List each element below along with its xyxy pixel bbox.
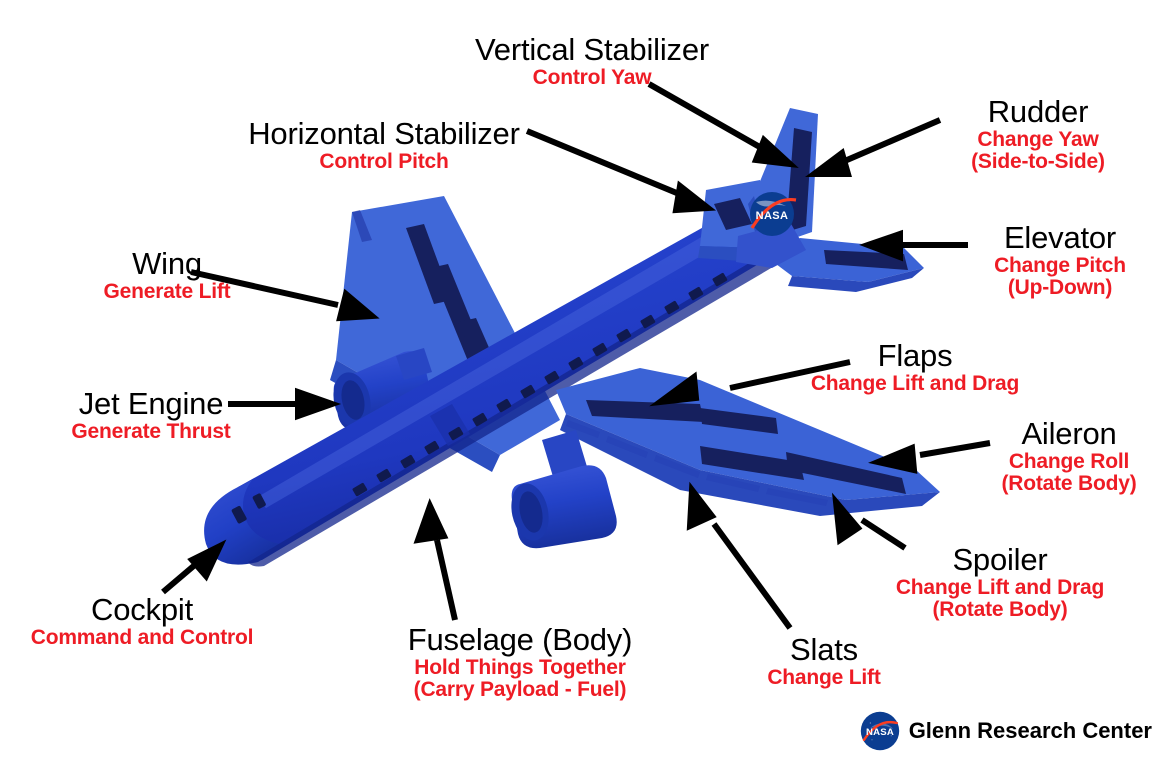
callout-title-fuselage: Fuselage (Body) xyxy=(376,624,664,657)
callout-spoiler: Spoiler Change Lift and Drag (Rotate Bod… xyxy=(866,544,1134,622)
callout-fuselage: Fuselage (Body) Hold Things Together (Ca… xyxy=(376,624,664,702)
callout-sub-spoiler-2: (Rotate Body) xyxy=(866,599,1134,622)
callout-rudder: Rudder Change Yaw (Side-to-Side) xyxy=(928,96,1148,174)
callout-sub-elevator-2: (Up-Down) xyxy=(960,277,1160,300)
callout-sub-aileron-1: Change Roll xyxy=(980,451,1158,474)
callout-title-elevator: Elevator xyxy=(960,222,1160,255)
nasa-meatball-icon: NASA xyxy=(860,711,900,751)
callout-sub-flaps-1: Change Lift and Drag xyxy=(800,373,1030,396)
callout-title-flaps: Flaps xyxy=(800,340,1030,373)
callout-layer: Vertical Stabilizer Control Yaw Rudder C… xyxy=(0,0,1168,765)
callout-sub-jet-engine-1: Generate Thrust xyxy=(56,421,246,444)
callout-vertical-stabilizer: Vertical Stabilizer Control Yaw xyxy=(462,34,722,89)
diagram-canvas: NASA xyxy=(0,0,1168,765)
callout-title-wing: Wing xyxy=(74,248,260,281)
callout-jet-engine: Jet Engine Generate Thrust xyxy=(56,388,246,443)
callout-title-jet-engine: Jet Engine xyxy=(56,388,246,421)
callout-sub-elevator-1: Change Pitch xyxy=(960,255,1160,278)
callout-wing: Wing Generate Lift xyxy=(74,248,260,303)
callout-title-horizontal-stabilizer: Horizontal Stabilizer xyxy=(234,118,534,151)
glenn-research-center-label: Glenn Research Center xyxy=(909,718,1152,744)
callout-title-aileron: Aileron xyxy=(980,418,1158,451)
callout-title-vertical-stabilizer: Vertical Stabilizer xyxy=(462,34,722,67)
callout-title-slats: Slats xyxy=(740,634,908,667)
callout-sub-aileron-2: (Rotate Body) xyxy=(980,473,1158,496)
callout-sub-spoiler-1: Change Lift and Drag xyxy=(866,577,1134,600)
callout-sub-slats-1: Change Lift xyxy=(740,667,908,690)
svg-text:NASA: NASA xyxy=(866,727,894,738)
callout-sub-fuselage-2: (Carry Payload - Fuel) xyxy=(376,679,664,702)
callout-sub-wing-1: Generate Lift xyxy=(74,281,260,304)
callout-title-spoiler: Spoiler xyxy=(866,544,1134,577)
callout-sub-rudder-2: (Side-to-Side) xyxy=(928,151,1148,174)
callout-sub-rudder-1: Change Yaw xyxy=(928,129,1148,152)
callout-sub-horizontal-stabilizer-1: Control Pitch xyxy=(234,151,534,174)
callout-sub-fuselage-1: Hold Things Together xyxy=(376,657,664,680)
callout-horizontal-stabilizer: Horizontal Stabilizer Control Pitch xyxy=(234,118,534,173)
callout-cockpit: Cockpit Command and Control xyxy=(20,594,264,649)
nasa-glenn-branding: NASA Glenn Research Center xyxy=(860,711,1152,751)
callout-title-rudder: Rudder xyxy=(928,96,1148,129)
callout-sub-vertical-stabilizer-1: Control Yaw xyxy=(462,67,722,90)
callout-sub-cockpit-1: Command and Control xyxy=(20,627,264,650)
callout-flaps: Flaps Change Lift and Drag xyxy=(800,340,1030,395)
callout-title-cockpit: Cockpit xyxy=(20,594,264,627)
callout-aileron: Aileron Change Roll (Rotate Body) xyxy=(980,418,1158,496)
callout-elevator: Elevator Change Pitch (Up-Down) xyxy=(960,222,1160,300)
callout-slats: Slats Change Lift xyxy=(740,634,908,689)
